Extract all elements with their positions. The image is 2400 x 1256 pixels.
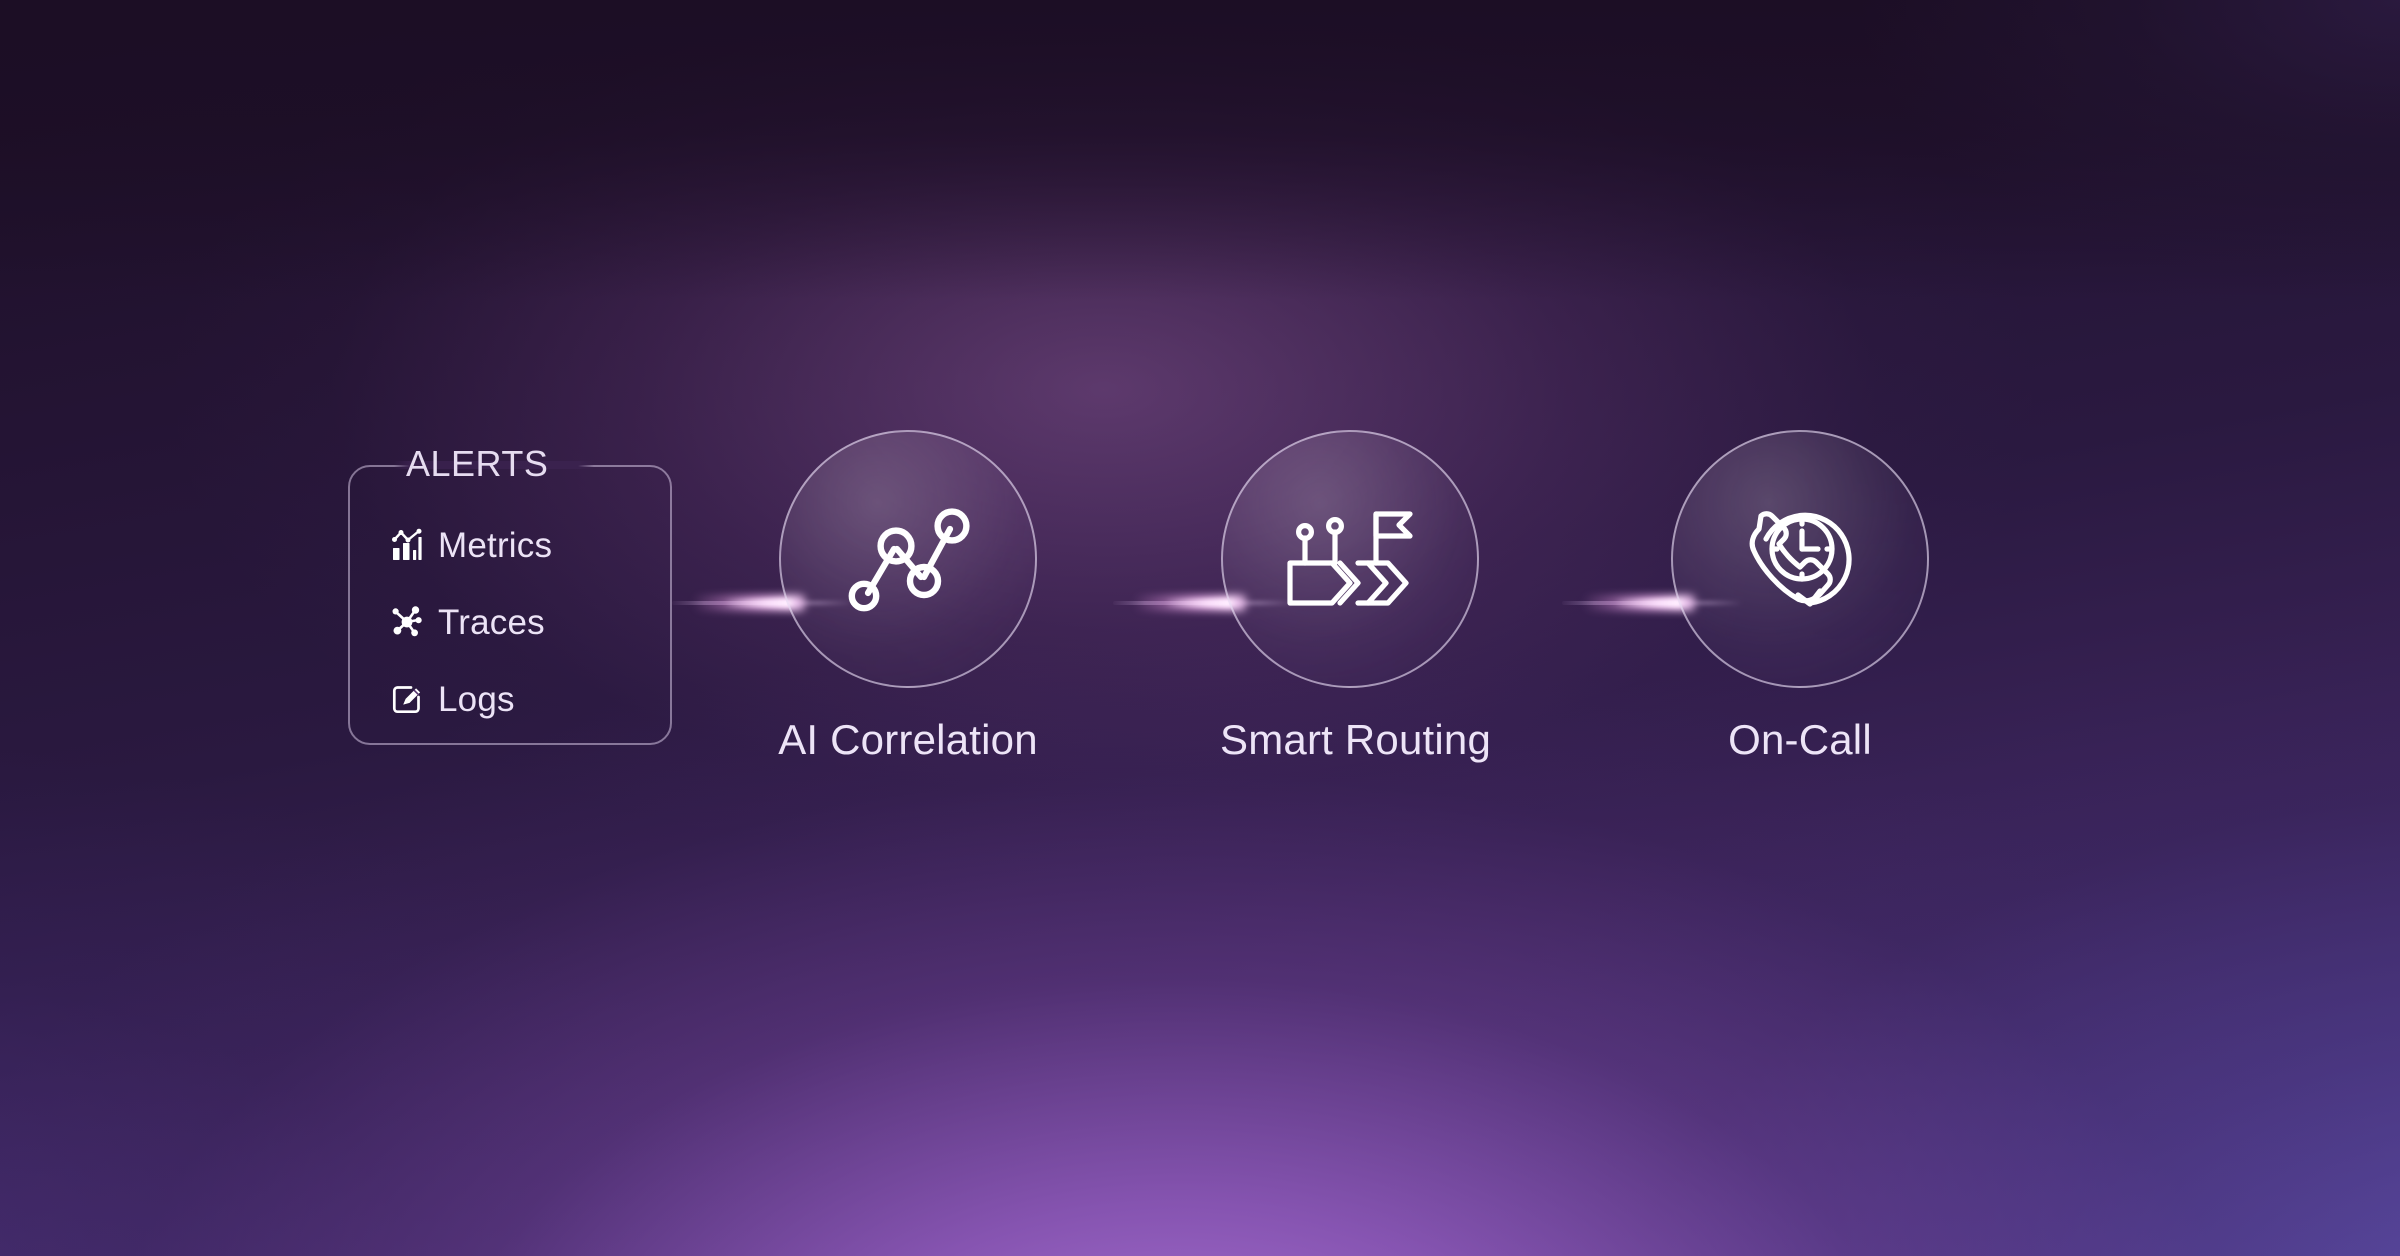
pipeline-stage: ALERTS — [0, 430, 2400, 770]
line-chart-nodes-icon — [846, 505, 970, 613]
alerts-list: Metrics — [390, 523, 552, 721]
bar-chart-line-icon — [390, 528, 424, 562]
pipeline-node-smart-routing[interactable]: Smart Routing — [1220, 430, 1480, 763]
node-circle — [1671, 430, 1929, 688]
chevron-milestones-flag-icon — [1284, 507, 1416, 611]
alerts-item-label: Traces — [438, 605, 545, 640]
pipeline-node-ai-correlation[interactable]: AI Correlation — [778, 430, 1038, 763]
node-graph-icon — [390, 605, 424, 639]
alerts-item-metrics[interactable]: Metrics — [390, 523, 552, 567]
pipeline-node-on-call[interactable]: On-Call — [1670, 430, 1930, 763]
alerts-group: ALERTS — [348, 465, 672, 745]
edit-square-pencil-icon — [390, 682, 424, 716]
alerts-group-legend: ALERTS — [394, 439, 560, 489]
node-circle — [779, 430, 1037, 688]
phone-clock-rotate-icon — [1732, 491, 1868, 627]
node-circle — [1221, 430, 1479, 688]
node-label: AI Correlation — [778, 717, 1038, 763]
alerts-item-label: Metrics — [438, 528, 552, 563]
alerts-item-traces[interactable]: Traces — [390, 600, 552, 644]
alerts-item-label: Logs — [438, 682, 515, 717]
alerts-item-logs[interactable]: Logs — [390, 677, 552, 721]
node-label: Smart Routing — [1220, 717, 1480, 763]
node-label: On-Call — [1670, 717, 1930, 763]
background-topright-shade — [1500, 0, 2400, 420]
